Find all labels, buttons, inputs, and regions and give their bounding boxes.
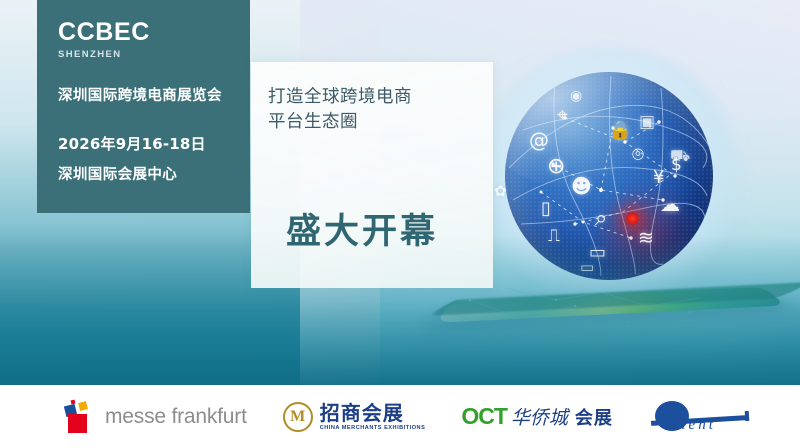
- slogan-headline: 打造全球跨境电商 平台生态圈: [268, 85, 412, 135]
- oct-chinese-name: 华侨城: [511, 403, 568, 430]
- oct-exhibition-logo[interactable]: OCT 华侨城 会展: [461, 403, 613, 430]
- sponsor-logo-row: messe frankfurt M 招商会展 CHINA MERCHANTS E…: [0, 399, 761, 435]
- china-merchants-wordmark: 招商会展 CHINA MERCHANTS EXHIBITIONS: [320, 403, 426, 431]
- exhibition-name: 深圳国际跨境电商展览会: [58, 84, 250, 105]
- talent-wordmark: alent: [671, 417, 716, 434]
- messe-frankfurt-mark-icon: [62, 400, 96, 434]
- exhibition-date: 2026年9月16-18日: [58, 133, 250, 154]
- grand-opening-text: 盛大开幕: [286, 203, 438, 254]
- ccbec-exhibition-poster: ⌖🔒@⊕⌾$¥☻▯⌕☁⎍≋▭ ▣⛟◉✿▭: [0, 0, 800, 448]
- slogan-headline-line2: 平台生态圈: [268, 110, 412, 135]
- event-info-panel: CCBEC SHENZHEN 深圳国际跨境电商展览会 2026年9月16-18日…: [37, 0, 250, 213]
- slogan-card: 打造全球跨境电商 平台生态圈 盛大开幕: [251, 62, 493, 288]
- sponsor-footer: messe frankfurt M 招商会展 CHINA MERCHANTS E…: [0, 385, 800, 448]
- talent-tick-icon: [745, 410, 750, 420]
- china-merchants-chinese-name: 招商会展: [320, 403, 426, 423]
- exhibition-venue: 深圳国际会展中心: [58, 163, 250, 184]
- messe-frankfurt-wordmark: messe frankfurt: [105, 405, 247, 429]
- slogan-headline-line1: 打造全球跨境电商: [268, 85, 412, 110]
- oct-wordmark: OCT: [461, 403, 507, 430]
- talent-logo[interactable]: alent: [649, 399, 761, 435]
- brand-subtitle: SHENZHEN: [58, 49, 250, 60]
- oct-exhibition-word: 会展: [575, 404, 613, 430]
- china-merchants-english-name: CHINA MERCHANTS EXHIBITIONS: [320, 425, 426, 431]
- brand-title: CCBEC: [58, 20, 250, 45]
- china-merchants-mark-icon: M: [283, 402, 313, 432]
- messe-frankfurt-logo[interactable]: messe frankfurt: [62, 400, 247, 434]
- china-merchants-exhibitions-logo[interactable]: M 招商会展 CHINA MERCHANTS EXHIBITIONS: [283, 402, 426, 432]
